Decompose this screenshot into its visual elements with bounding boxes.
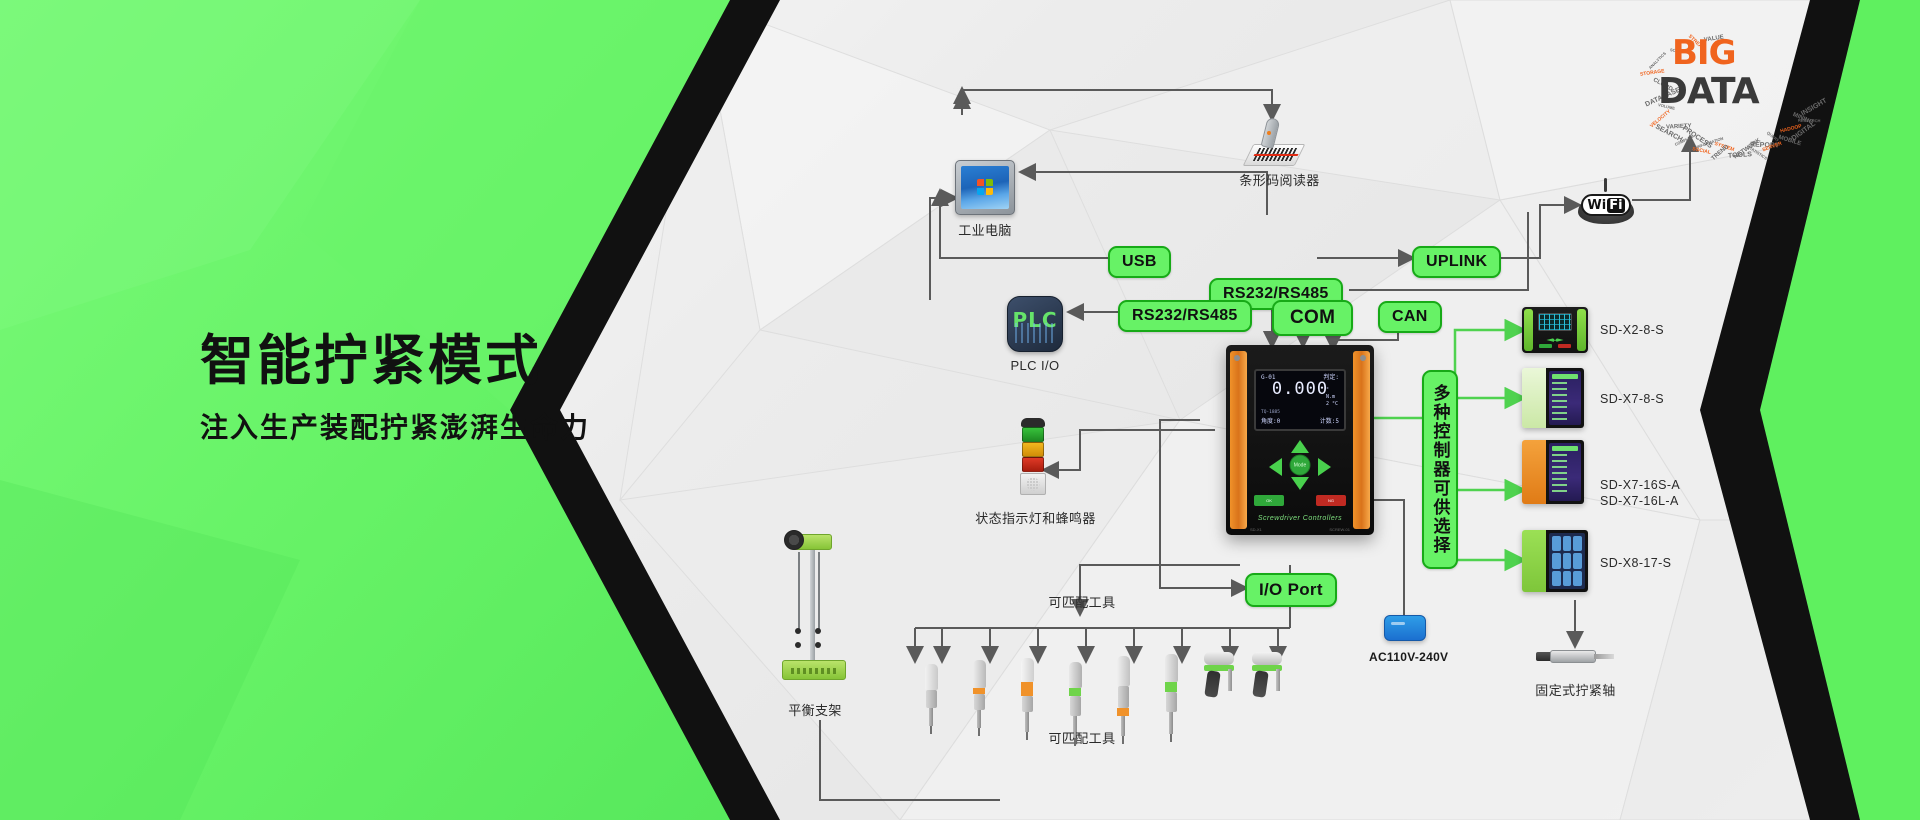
controller-unit-deg: °	[1326, 387, 1338, 394]
bigdata-wordcloud: ANALYTICSSTORAGECLOUDDATABASEVOLUMEVELOC…	[1640, 30, 1830, 160]
badge-can[interactable]: CAN	[1378, 301, 1442, 333]
controller-angle: 角度:0	[1261, 419, 1280, 426]
controller-option-5-image	[1522, 530, 1588, 592]
page-title: 智能拧紧模式	[200, 330, 590, 392]
controller-dpad[interactable]: Mode	[1269, 440, 1331, 490]
controller-option-4-label: SD-X7-16L-A	[1600, 494, 1730, 508]
controller-foot-right: SCREW-01	[1329, 527, 1350, 532]
badge-power: AC110V-240V	[1363, 648, 1454, 666]
tool-pistol-2	[1248, 652, 1282, 698]
controller-brand: Screwdriver Controllers	[1226, 515, 1374, 522]
main-controller-device: G-01 判定: 0.000 ° N.m 2 °C TQ-1885 角度:0 计…	[1226, 345, 1374, 535]
matched-tools-bottom-label: 可匹配工具	[1032, 728, 1132, 747]
controller-option-5-label: SD-X8-17-S	[1600, 556, 1720, 570]
badge-com[interactable]: COM	[1272, 300, 1353, 336]
controller-option-2-image	[1522, 368, 1584, 428]
controller-foot-left: SD-X1	[1250, 527, 1262, 532]
hero-text-block: 智能拧紧模式 注入生产装配拧紧澎湃生命力	[200, 330, 590, 446]
barcode-reader-icon	[1248, 118, 1310, 166]
tool-driver-6	[1160, 654, 1182, 742]
controller-option-2-label: SD-X7-8-S	[1600, 392, 1720, 406]
dpad-left-icon[interactable]	[1269, 458, 1282, 476]
fixed-spindle-label: 固定式拧紧轴	[1518, 680, 1633, 699]
controller-ng-button[interactable]: NG	[1316, 495, 1346, 506]
plc-icon: PLC	[1007, 296, 1063, 352]
status-light-label: 状态指示灯和蜂鸣器	[968, 508, 1103, 527]
dpad-up-icon[interactable]	[1291, 440, 1309, 453]
badge-io-port[interactable]: I/O Port	[1245, 573, 1337, 607]
dpad-down-icon[interactable]	[1291, 477, 1309, 490]
power-supply-icon	[1384, 615, 1426, 641]
barcode-reader-label: 条形码阅读器	[1222, 170, 1337, 189]
tool-driver-2	[968, 660, 990, 736]
balance-arm-label: 平衡支架	[760, 700, 870, 719]
badge-usb[interactable]: USB	[1108, 246, 1171, 278]
industrial-pc-label: 工业电脑	[955, 220, 1015, 239]
controller-model-tiny: TQ-1885	[1261, 411, 1280, 416]
tool-driver-1	[920, 664, 942, 734]
bigdata-subtitle: DATA	[1658, 76, 1759, 108]
bigdata-title: BIG	[1672, 38, 1735, 69]
controller-option-1-label: SD-X2-8-S	[1600, 323, 1720, 337]
controller-option-3-label: SD-X7-16S-A	[1600, 478, 1730, 492]
plc-io-label: PLC I/O	[995, 358, 1075, 373]
badge-uplink[interactable]: UPLINK	[1412, 246, 1501, 278]
controller-option-3-image	[1522, 440, 1584, 504]
status-light-icon	[1020, 418, 1046, 502]
controller-count: 计数:5	[1320, 419, 1339, 426]
wifi-label: WiFi	[1587, 198, 1624, 213]
fixed-spindle-icon	[1536, 645, 1614, 669]
page-subtitle: 注入生产装配拧紧澎湃生命力	[200, 406, 590, 446]
controller-option-1-image	[1522, 307, 1588, 353]
matched-tools-top-label: 可匹配工具	[1032, 592, 1132, 611]
hero-banner: 智能拧紧模式 注入生产装配拧紧澎湃生命力	[0, 0, 1920, 820]
wifi-module-icon: WiFi	[1578, 178, 1634, 224]
badge-controller-selector[interactable]: 多种控制器可供选择	[1422, 370, 1458, 569]
tool-pistol-1	[1200, 652, 1234, 698]
badge-rs232-rs485-left[interactable]: RS232/RS485	[1118, 300, 1252, 332]
controller-ok-button[interactable]: OK	[1254, 495, 1284, 506]
controller-unit-temp: 2 °C	[1326, 401, 1338, 408]
controller-unit-nm: N.m	[1326, 394, 1338, 401]
dpad-mode-button[interactable]: Mode	[1290, 455, 1311, 476]
controller-screen: G-01 判定: 0.000 ° N.m 2 °C TQ-1885 角度:0 计…	[1254, 369, 1346, 431]
balance-arm-icon	[778, 530, 850, 680]
dpad-right-icon[interactable]	[1318, 458, 1331, 476]
industrial-pc-icon	[955, 160, 1015, 215]
